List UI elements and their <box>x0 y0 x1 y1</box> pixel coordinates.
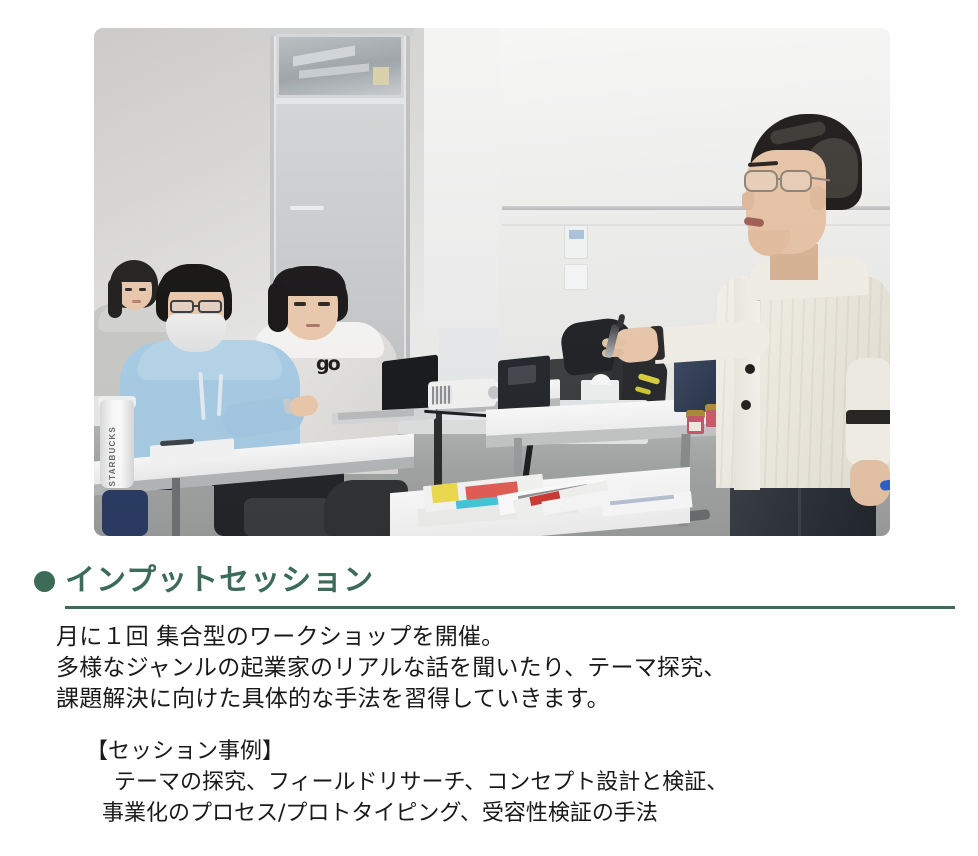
student-center-glasses-right <box>198 300 222 313</box>
student-right-side-hair <box>268 282 288 332</box>
hoodie-logo: go <box>316 354 344 374</box>
student-center-bangs <box>160 268 230 292</box>
body-line-2: 多様なジャンルの起業家のリアルな話を聞いたり、テーマ探究、 <box>56 653 956 684</box>
desk-back-leg-a <box>434 412 442 490</box>
presenter-glasses-bridge <box>776 178 782 180</box>
student-center-glasses-left <box>170 300 194 313</box>
section-heading-label: インプットセッション <box>65 566 374 596</box>
wall-middle <box>424 28 504 328</box>
projector-vent <box>432 385 452 404</box>
workshop-photo: go <box>94 28 890 536</box>
door-glass-panel <box>276 34 404 98</box>
body-line-3: 課題解決に向けた具体的な手法を習得していきます。 <box>56 684 956 715</box>
body-line-1: 月に１回 集合型のワークショップを開催。 <box>56 622 956 653</box>
presenter-cardigan-placket <box>734 278 760 490</box>
presenter-held-blue-object <box>879 479 890 491</box>
session-examples-title: 【セッション事例】 <box>86 736 966 767</box>
presenter-ear <box>810 186 826 210</box>
cardigan-button-4 <box>741 400 751 410</box>
student-back-left-mouth <box>132 300 141 303</box>
wall-switch-lower <box>564 264 588 290</box>
photo-scene: go <box>94 28 890 536</box>
light-reflection <box>373 67 389 85</box>
session-examples-line-1: テーマの探究、フィールドリサーチ、コンセプト設計と検証、 <box>86 767 966 798</box>
student-back-left-eye-right <box>139 288 146 291</box>
student-back-left-bangs <box>116 266 156 282</box>
session-examples-line-2: 事業化のプロセス/プロトタイピング、受容性検証の手法 <box>86 798 966 829</box>
student-right-mouth <box>306 324 320 327</box>
cardigan-button-3 <box>745 364 755 374</box>
section-heading: インプットセッション <box>34 566 374 596</box>
student-center-glasses-bridge <box>193 305 200 307</box>
tumbler-brand-label: STARBUCKS <box>108 426 117 486</box>
wall-switch-upper <box>564 225 588 259</box>
laptop-right-screen <box>498 355 550 412</box>
wall-rail-secondary <box>502 224 890 226</box>
student-right-eye-right <box>318 302 330 306</box>
starbucks-tumbler <box>100 400 134 488</box>
floor-bag-blue <box>102 490 148 536</box>
section-body: 月に１回 集合型のワークショップを開催。 多様なジャンルの起業家のリアルな話を聞… <box>56 622 956 715</box>
student-back-left-eye-left <box>125 288 132 291</box>
laptop-right-screen-glare <box>508 365 536 386</box>
presenter-glasses-left <box>744 170 778 192</box>
session-examples: 【セッション事例】 テーマの探究、フィールドリサーチ、コンセプト設計と検証、 事… <box>86 736 966 829</box>
presenter-nose <box>742 192 754 210</box>
ceiling-reflection-a <box>293 46 355 67</box>
student-back-left-side-hair <box>108 278 122 318</box>
presenter-glasses-right <box>780 170 812 192</box>
door-handle <box>290 206 324 210</box>
filled-circle-icon <box>34 571 55 592</box>
student-right-eye-left <box>294 302 306 306</box>
ceiling-reflection-b <box>299 63 369 78</box>
jam-jar-label-a <box>689 422 701 431</box>
desk-front-left-leg <box>172 478 180 536</box>
section-divider <box>65 606 955 609</box>
